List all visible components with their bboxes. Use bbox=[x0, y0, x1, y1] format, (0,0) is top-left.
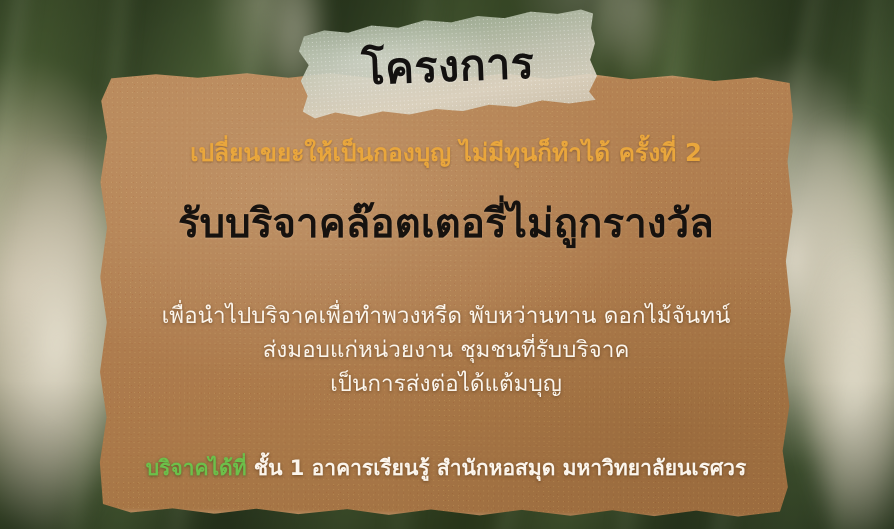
poster-headline: รับบริจาคล๊อตเตอรี่ไม่ถูกรางวัล bbox=[110, 200, 782, 249]
poster-content: เปลี่ยนขยะให้เป็นกองบุญ ไม่มีทุนก็ทำได้ … bbox=[110, 78, 782, 512]
donation-location-line: บริจาคได้ที่ ชั้น 1 อาคารเรียนรู้ สำนักห… bbox=[110, 454, 782, 482]
poster-body-text: เพื่อนำไปบริจาคเพื่อทำพวงหรีด พับหว่านทา… bbox=[110, 300, 782, 401]
body-line-3: เป็นการส่งต่อได้แต้มบุญ bbox=[110, 368, 782, 402]
body-line-2: ส่งมอบแก่หน่วยงาน ชุมชนที่รับบริจาค bbox=[110, 334, 782, 368]
campaign-subtitle: เปลี่ยนขยะให้เป็นกองบุญ ไม่มีทุนก็ทำได้ … bbox=[110, 138, 782, 169]
body-line-1: เพื่อนำไปบริจาคเพื่อทำพวงหรีด พับหว่านทา… bbox=[110, 300, 782, 334]
donation-location-highlight: บริจาคได้ที่ bbox=[146, 456, 247, 480]
poster-canvas: โครงการ เปลี่ยนขยะให้เป็นกองบุญ ไม่มีทุน… bbox=[0, 0, 894, 529]
donation-location-address: ชั้น 1 อาคารเรียนรู้ สำนักหอสมุด มหาวิทย… bbox=[247, 456, 747, 480]
